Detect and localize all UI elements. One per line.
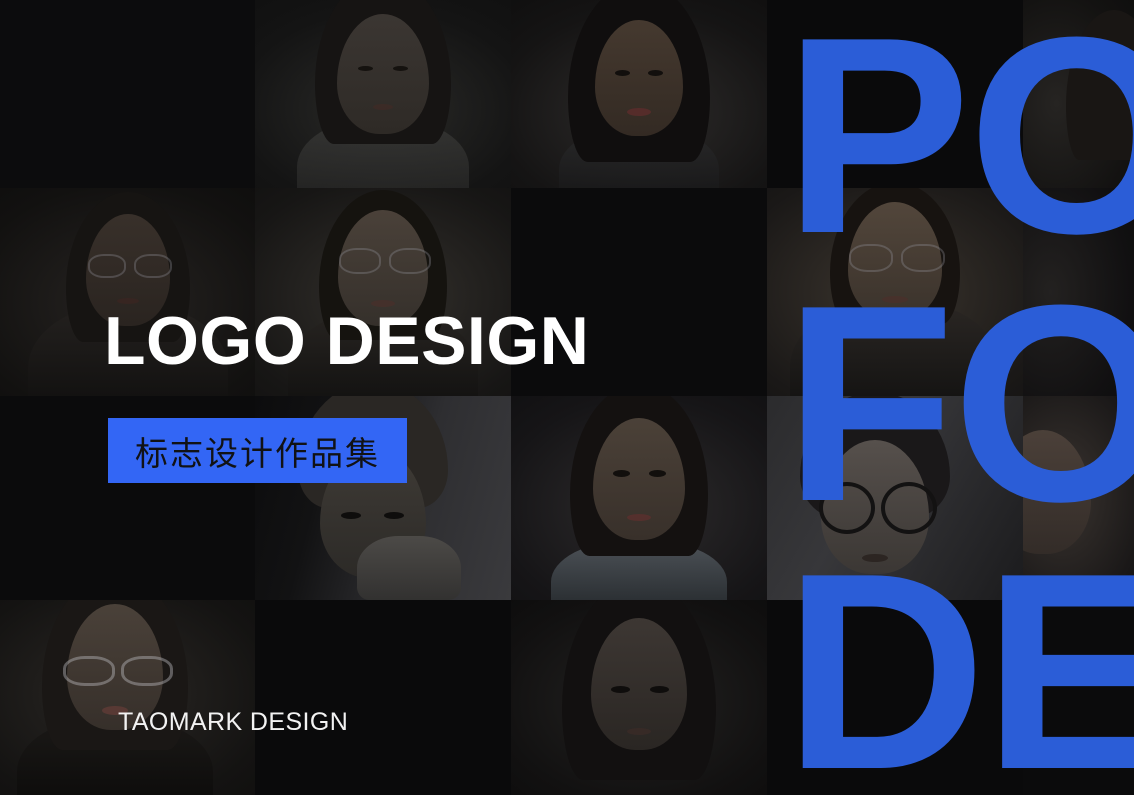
page-title: LOGO DESIGN <box>104 307 589 375</box>
poster-canvas: PO FO DE LOGO DESIGN 标志设计作品集 TAOMARK DES… <box>0 0 1134 795</box>
brand-signature: TAOMARK DESIGN <box>118 708 348 737</box>
subtitle-badge: 标志设计作品集 <box>108 418 407 483</box>
photo-cell <box>0 0 255 188</box>
display-letters-line-3: DE <box>784 558 1134 788</box>
photo-cell <box>511 0 767 188</box>
display-letters-line-2: FO <box>784 290 1134 520</box>
photo-cell <box>511 600 767 795</box>
photo-cell <box>511 396 767 600</box>
subtitle-badge-label: 标志设计作品集 <box>135 427 380 475</box>
photo-cell <box>255 600 511 795</box>
photo-cell <box>255 0 511 188</box>
photo-cell <box>0 600 255 795</box>
display-letters-line-1: PO <box>784 22 1134 252</box>
